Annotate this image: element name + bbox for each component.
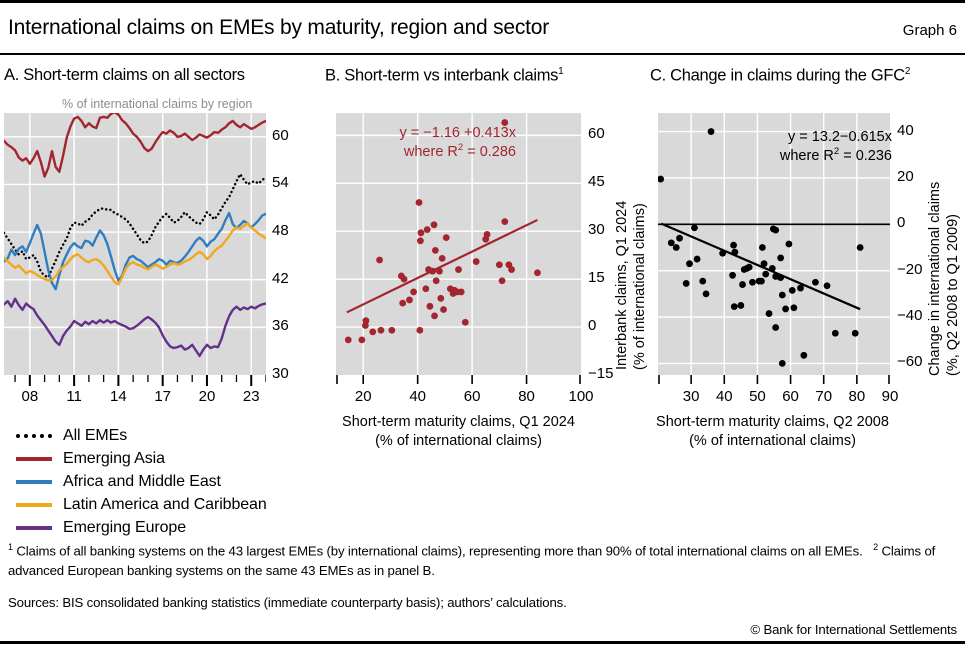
panel-a-ytick-60: 60 bbox=[272, 127, 289, 144]
page-title: International claims on EMEs by maturity… bbox=[8, 16, 549, 40]
legend-label-3: Latin America and Caribbean bbox=[63, 496, 267, 514]
panel-b-xaxis-title-2: (% of international claims) bbox=[336, 433, 581, 449]
legend: All EMEsEmerging AsiaAfrica and Middle E… bbox=[16, 424, 267, 539]
panel-c-ytick-4: 20 bbox=[897, 168, 914, 185]
legend-label-2: Africa and Middle East bbox=[63, 473, 221, 491]
panel-a-ytick-36: 36 bbox=[272, 317, 289, 334]
panel-b-title: B. Short-term vs interbank claims1 bbox=[325, 66, 563, 86]
panel-a-xtick-14: 14 bbox=[98, 388, 138, 405]
panel-b-ytick-1: 0 bbox=[588, 317, 596, 334]
legend-item-0[interactable]: All EMEs bbox=[16, 424, 267, 447]
panel-c-tickmarks bbox=[658, 375, 890, 385]
legend-label-1: Emerging Asia bbox=[63, 450, 165, 468]
panel-c-xtick-90: 90 bbox=[868, 388, 912, 405]
panel-c-ytick-5: 40 bbox=[897, 122, 914, 139]
panel-b-xtick-20: 20 bbox=[341, 388, 385, 405]
panel-b-equation-line2: where R2 = 0.286 bbox=[346, 142, 516, 161]
legend-label-4: Emerging Europe bbox=[63, 519, 186, 537]
panel-a-xtick-17: 17 bbox=[143, 388, 183, 405]
panel-a-subtitle: % of international claims by region bbox=[62, 97, 252, 111]
panel-c-ytick-0: −60 bbox=[897, 353, 922, 370]
panel-c-equation-line2: where R2 = 0.236 bbox=[727, 146, 892, 165]
panel-b-xtick-60: 60 bbox=[450, 388, 494, 405]
legend-item-4[interactable]: Emerging Europe bbox=[16, 516, 267, 539]
panel-a-xtick-11: 11 bbox=[54, 388, 94, 405]
footnote-1-text: Claims of all banking systems on the 43 … bbox=[16, 543, 862, 558]
panel-a-xtick-23: 23 bbox=[231, 388, 271, 405]
legend-item-3[interactable]: Latin America and Caribbean bbox=[16, 493, 267, 516]
panel-a-title: A. Short-term claims on all sectors bbox=[4, 66, 245, 85]
panel-c-xaxis-title-1: Short-term maturity claims, Q2 2008 bbox=[650, 414, 895, 430]
panel-a-xtick-08: 08 bbox=[10, 388, 50, 405]
top-rule bbox=[0, 0, 965, 3]
panel-b-ytick-2: 15 bbox=[588, 269, 605, 286]
panel-c-yaxis-title-2: (%, Q2 2008 to Q1 2009) bbox=[945, 214, 961, 376]
title-rule bbox=[0, 53, 965, 55]
panel-c-ytick-1: −40 bbox=[897, 307, 922, 324]
footnote-marker-1: 1 bbox=[8, 542, 13, 552]
panel-b-tickmarks bbox=[336, 375, 581, 385]
panel-c-ytick-2: −20 bbox=[897, 261, 922, 278]
panel-c-equation-line1: y = 13.2−0.615x bbox=[727, 128, 892, 146]
panel-b-xaxis-title-1: Short-term maturity claims, Q1 2024 bbox=[336, 414, 581, 430]
panel-b-xtick-40: 40 bbox=[396, 388, 440, 405]
legend-item-2[interactable]: Africa and Middle East bbox=[16, 470, 267, 493]
panel-a-svg bbox=[4, 113, 266, 375]
bottom-rule bbox=[0, 641, 965, 644]
legend-label-0: All EMEs bbox=[63, 427, 127, 445]
panel-a-ytick-54: 54 bbox=[272, 174, 289, 191]
panel-a-ytick-30: 30 bbox=[272, 365, 289, 382]
panel-c-yaxis-title-1: Change in international claims bbox=[927, 182, 943, 376]
panel-c-ytick-3: 0 bbox=[897, 214, 905, 231]
legend-swatch-icon-1 bbox=[16, 457, 52, 461]
panel-a-xtick-20: 20 bbox=[187, 388, 227, 405]
panel-c-equation: y = 13.2−0.615x where R2 = 0.236 bbox=[727, 128, 892, 165]
footnotes: 1 Claims of all banking systems on the 4… bbox=[8, 541, 958, 580]
copyright-line: © Bank for International Settlements bbox=[750, 622, 957, 637]
footnote-marker-2: 2 bbox=[873, 542, 878, 552]
legend-swatch-icon-3 bbox=[16, 503, 52, 507]
panel-c-title: C. Change in claims during the GFC2 bbox=[650, 66, 910, 86]
panel-b-yaxis-title-2: (% of international claims) bbox=[632, 203, 648, 370]
panel-b-ytick-4: 45 bbox=[588, 173, 605, 190]
panel-b-ytick-3: 30 bbox=[588, 221, 605, 238]
panel-c-xaxis-title-2: (% of international claims) bbox=[650, 433, 895, 449]
panel-b-xtick-100: 100 bbox=[559, 388, 603, 405]
legend-swatch-icon-2 bbox=[16, 480, 52, 484]
legend-swatch-icon-4 bbox=[16, 526, 52, 530]
panel-b-equation: y = −1.16 +0.413x where R2 = 0.286 bbox=[346, 124, 516, 161]
panel-b-ytick-5: 60 bbox=[588, 125, 605, 142]
panel-a-tickmarks bbox=[4, 375, 266, 387]
panel-a-plot bbox=[4, 113, 266, 375]
graph-number: Graph 6 bbox=[903, 22, 957, 39]
legend-item-1[interactable]: Emerging Asia bbox=[16, 447, 267, 470]
sources-line: Sources: BIS consolidated banking statis… bbox=[8, 595, 567, 610]
panel-b-xtick-80: 80 bbox=[505, 388, 549, 405]
panel-b-yaxis-title-1: Interbank claims, Q1 2024 bbox=[614, 201, 630, 370]
panel-a-ytick-42: 42 bbox=[272, 270, 289, 287]
panel-b-equation-line1: y = −1.16 +0.413x bbox=[346, 124, 516, 142]
legend-swatch-icon-0 bbox=[16, 434, 52, 438]
panel-b-ytick-0: −15 bbox=[588, 365, 613, 382]
panel-a-ytick-48: 48 bbox=[272, 222, 289, 239]
